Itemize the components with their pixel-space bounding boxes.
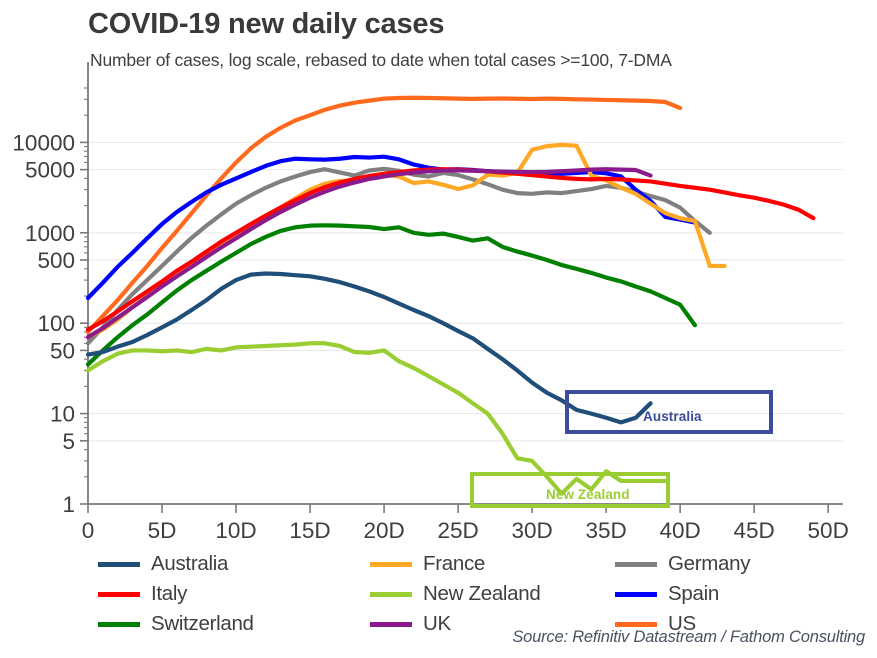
legend-label: Switzerland — [151, 612, 254, 636]
x-tick-label: 50D — [808, 518, 849, 543]
australia-callout-label: Australia — [643, 409, 702, 424]
legend-swatch-icon — [370, 592, 412, 597]
y-tick-label: 100 — [37, 311, 75, 336]
legend-swatch-icon — [615, 592, 657, 597]
legend-label: Australia — [151, 552, 228, 576]
chart-legend: AustraliaFranceGermanyItalyNew ZealandSp… — [98, 552, 798, 636]
legend-swatch-icon — [98, 622, 140, 627]
x-tick-label: 45D — [734, 518, 775, 543]
legend-item-australia[interactable]: Australia — [98, 552, 370, 576]
chart-series — [88, 98, 813, 494]
legend-item-germany[interactable]: Germany — [615, 552, 798, 576]
legend-item-spain[interactable]: Spain — [615, 582, 798, 606]
y-tick-label: 1000 — [25, 221, 75, 246]
x-tick-label: 10D — [215, 518, 256, 543]
new-zealand-callout: New Zealand — [470, 472, 670, 508]
x-tick-label: 30D — [511, 518, 552, 543]
x-tick-label: 20D — [363, 518, 404, 543]
chart-page: COVID-19 new daily cases Number of cases… — [0, 0, 877, 658]
line-chart-plot: 151050100500100050001000005D10D15D20D25D… — [0, 0, 877, 545]
series-line-switzerland — [88, 225, 695, 364]
legend-item-italy[interactable]: Italy — [98, 582, 370, 606]
y-tick-label: 5000 — [25, 158, 75, 183]
x-tick-label: 40D — [660, 518, 701, 543]
legend-swatch-icon — [370, 562, 412, 567]
australia-callout: Australia — [565, 390, 773, 434]
legend-label: Germany — [668, 552, 750, 576]
legend-label: France — [423, 552, 485, 576]
legend-label: Spain — [668, 582, 719, 606]
y-tick-label: 5 — [62, 429, 75, 454]
legend-swatch-icon — [370, 622, 412, 627]
x-tick-label: 0 — [82, 518, 95, 543]
legend-item-switzerland[interactable]: Switzerland — [98, 612, 370, 636]
y-tick-label: 1 — [62, 492, 75, 517]
legend-item-new-zealand[interactable]: New Zealand — [370, 582, 615, 606]
new-zealand-callout-label: New Zealand — [546, 487, 630, 502]
legend-swatch-icon — [615, 622, 657, 627]
y-axis-minor-ticks — [80, 88, 88, 504]
source-note: Source: Refinitiv Datastream / Fathom Co… — [512, 628, 865, 647]
x-tick-label: 15D — [289, 518, 330, 543]
legend-swatch-icon — [98, 592, 140, 597]
legend-label: Italy — [151, 582, 187, 606]
y-tick-label: 10000 — [12, 130, 75, 155]
legend-swatch-icon — [615, 562, 657, 567]
legend-swatch-icon — [98, 562, 140, 567]
x-axis-ticks: 05D10D15D20D25D30D35D40D45D50D — [82, 504, 849, 543]
y-tick-label: 50 — [50, 338, 75, 363]
legend-item-france[interactable]: France — [370, 552, 615, 576]
x-tick-label: 35D — [585, 518, 626, 543]
y-tick-label: 10 — [50, 402, 75, 427]
legend-label: UK — [423, 612, 451, 636]
legend-label: New Zealand — [423, 582, 541, 606]
y-tick-label: 500 — [37, 248, 75, 273]
x-tick-label: 25D — [437, 518, 478, 543]
y-axis-tick-labels: 1510501005001000500010000 — [12, 130, 75, 517]
x-tick-label: 5D — [148, 518, 177, 543]
